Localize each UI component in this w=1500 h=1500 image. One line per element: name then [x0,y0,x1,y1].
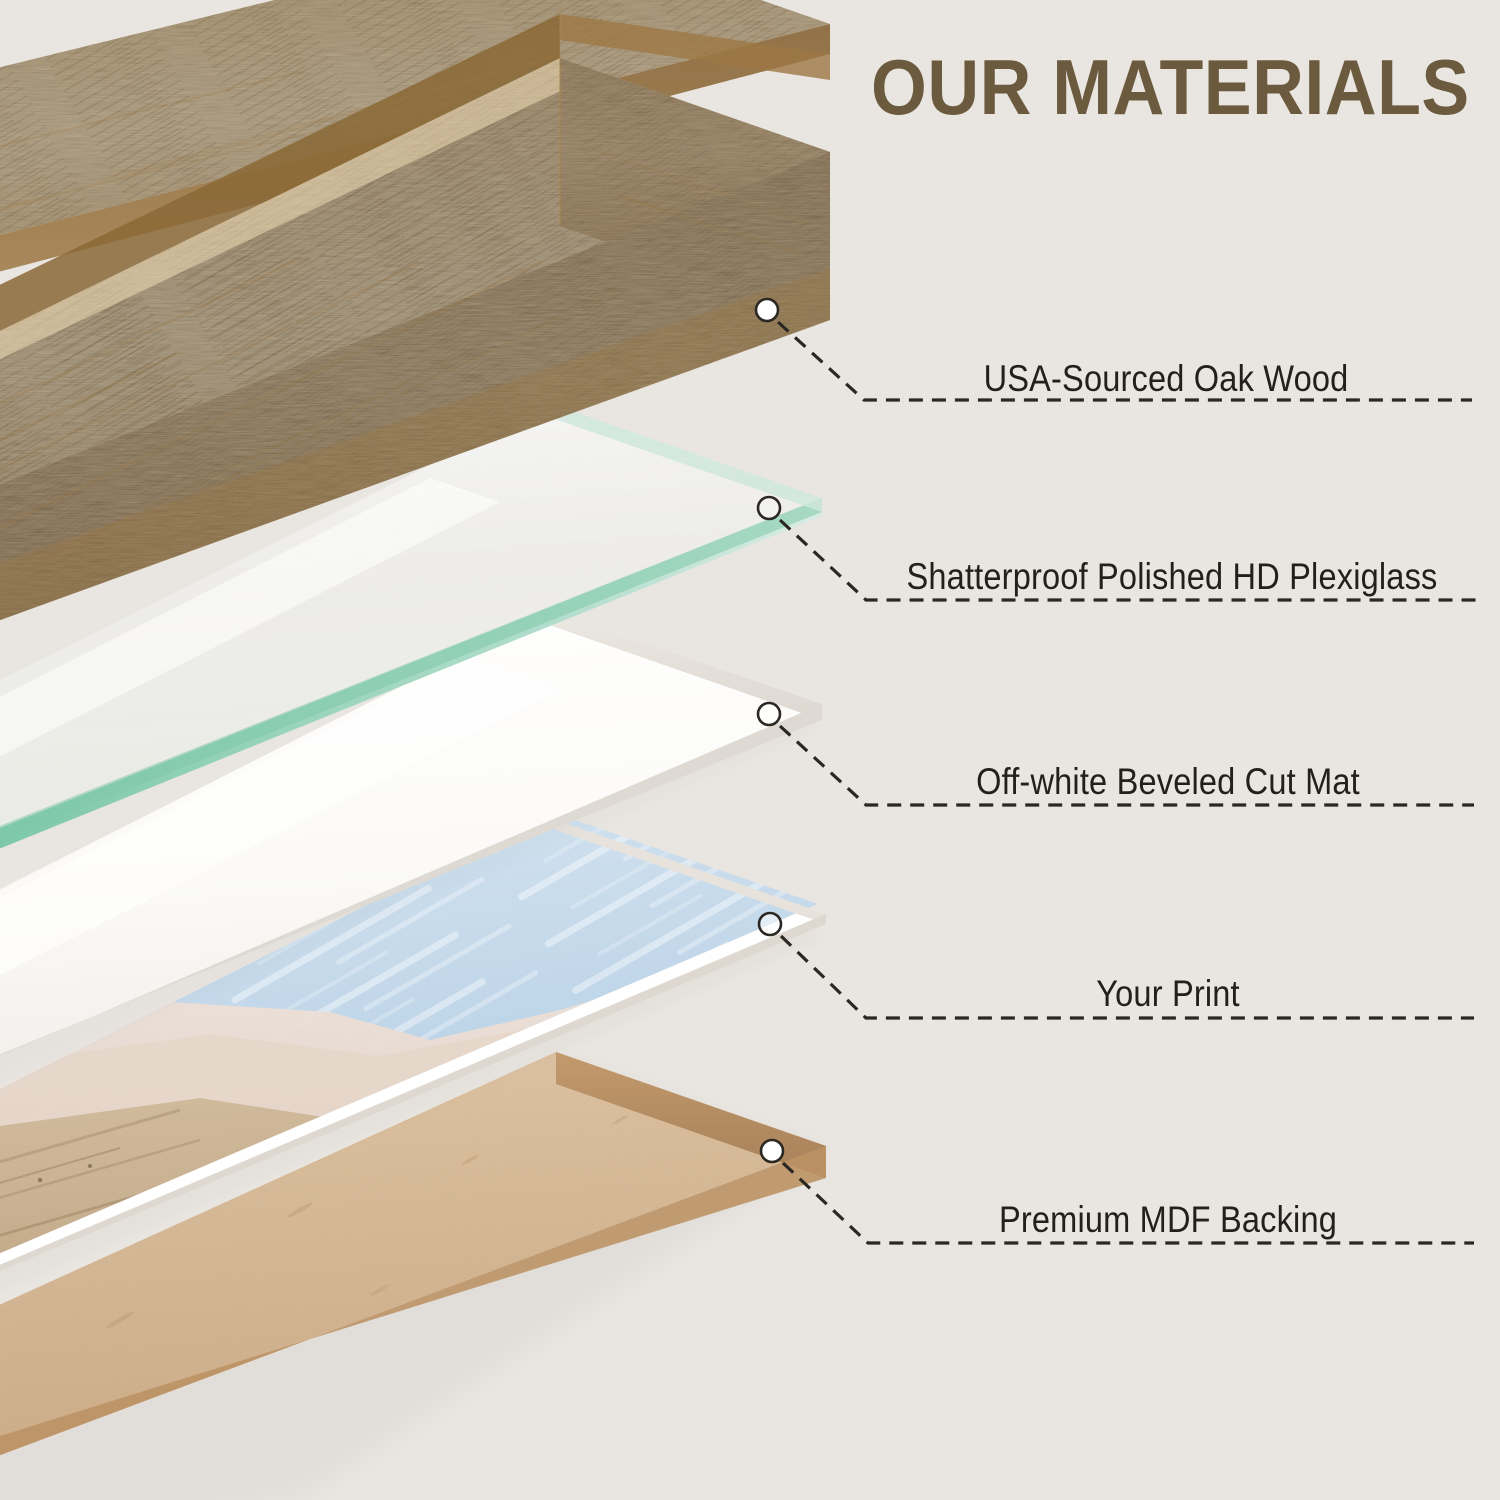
page-title: OUR MATERIALS [871,48,1470,126]
callout-label-mdf-backing: Premium MDF Backing [999,1201,1337,1238]
marker-oak-wood[interactable] [756,299,778,321]
callout-label-print: Your Print [1096,975,1240,1012]
callout-label-mat: Off-white Beveled Cut Mat [976,763,1360,800]
marker-mdf-backing[interactable] [761,1140,783,1162]
marker-mat[interactable] [758,703,780,725]
marker-plexiglass[interactable] [758,497,780,519]
marker-print[interactable] [759,913,781,935]
materials-infographic: OUR MATERIALS USA-Sourced Oak Wood Shatt… [0,0,1500,1500]
callout-label-oak-wood: USA-Sourced Oak Wood [984,360,1349,397]
product-exploded-view [0,0,1500,1500]
callout-label-plexiglass: Shatterproof Polished HD Plexiglass [906,558,1437,595]
